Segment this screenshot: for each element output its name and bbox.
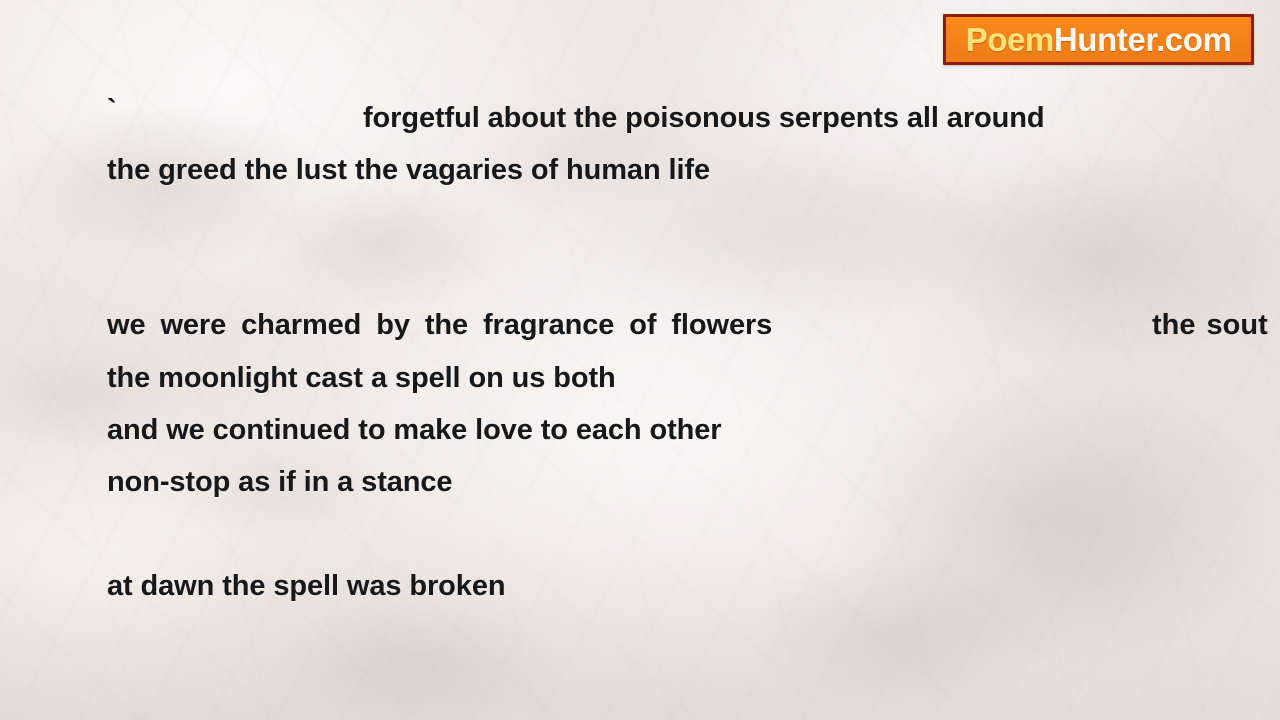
poem-line-1: forgetful about the poisonous serpents a… bbox=[363, 104, 1044, 133]
poem-line-7: at dawn the spell was broken bbox=[107, 572, 505, 601]
poem-line-3-overflow-fragment: the sout bbox=[1152, 311, 1268, 340]
poem-line-2: the greed the lust the vagaries of human… bbox=[107, 156, 710, 185]
poem-line-3: we were charmed by the fragrance of flow… bbox=[107, 311, 772, 340]
poem-body: ` forgetful about the poisonous serpents… bbox=[0, 0, 1280, 720]
poem-line-6: non-stop as if in a stance bbox=[107, 468, 452, 497]
leading-backtick-mark: ` bbox=[107, 96, 117, 125]
poem-line-4: the moonlight cast a spell on us both bbox=[107, 364, 616, 393]
poem-video-frame: PoemHunter.com ` forgetful about the poi… bbox=[0, 0, 1280, 720]
poem-line-5: and we continued to make love to each ot… bbox=[107, 416, 722, 445]
